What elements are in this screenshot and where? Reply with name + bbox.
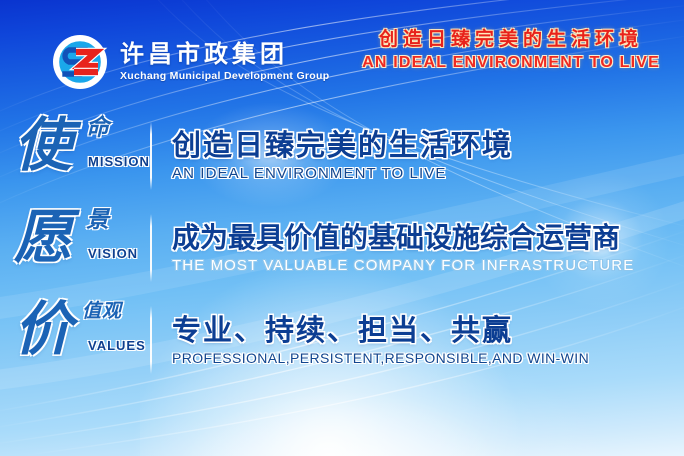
header-slogan-en: AN IDEAL ENVIRONMENT TO LIVE	[362, 53, 660, 72]
statement-en-values: PROFESSIONAL,PERSISTENT,RESPONSIBLE,AND …	[172, 350, 589, 368]
row-vision: 愿 景 VISION 成为最具价值的基础设施综合运营商 THE MOST VAL…	[0, 202, 684, 294]
row-divider	[150, 122, 152, 190]
keyword-en-mission: MISSION	[88, 154, 150, 169]
keyword-block-vision: 愿 景 VISION	[0, 202, 150, 294]
company-logo-icon	[52, 34, 108, 90]
statement-cn-mission: 创造日臻完美的生活环境	[172, 128, 513, 162]
brand-name-en: Xuchang Municipal Development Group	[120, 70, 329, 84]
keyword-block-mission: 使 命 MISSION	[0, 110, 150, 202]
brand-text-group: 许昌市政集团 Xuchang Municipal Development Gro…	[120, 40, 329, 84]
statement-en-vision: THE MOST VALUABLE COMPANY FOR INFRASTRUC…	[172, 257, 634, 276]
row-values: 价 值观 VALUES 专业、持续、担当、共赢 PROFESSIONAL,PER…	[0, 294, 684, 386]
text-block-vision: 成为最具价值的基础设施综合运营商 THE MOST VALUABLE COMPA…	[150, 221, 634, 276]
keyword-en-vision: VISION	[88, 246, 138, 261]
keyword-small-vision: 景	[86, 208, 110, 231]
statement-cn-values: 专业、持续、担当、共赢	[172, 313, 589, 347]
keyword-small-mission: 命	[86, 116, 110, 139]
header-slogan-cn: 创造日臻完美的生活环境	[362, 28, 660, 52]
keyword-small-values: 值观	[82, 302, 122, 321]
row-divider	[150, 214, 152, 282]
poster-canvas: 许昌市政集团 Xuchang Municipal Development Gro…	[0, 0, 684, 456]
row-divider	[150, 306, 152, 374]
text-block-mission: 创造日臻完美的生活环境 AN IDEAL ENVIRONMENT TO LIVE	[150, 128, 513, 184]
keyword-big-mission: 使	[14, 116, 72, 174]
keyword-big-values: 价	[14, 300, 72, 358]
brand-header: 许昌市政集团 Xuchang Municipal Development Gro…	[52, 34, 329, 90]
statement-cn-vision: 成为最具价值的基础设施综合运营商	[172, 221, 634, 254]
keyword-en-values: VALUES	[88, 338, 146, 353]
text-block-values: 专业、持续、担当、共赢 PROFESSIONAL,PERSISTENT,RESP…	[150, 313, 589, 368]
header-slogan: 创造日臻完美的生活环境 AN IDEAL ENVIRONMENT TO LIVE	[362, 28, 660, 72]
brand-name-cn: 许昌市政集团	[120, 42, 329, 68]
value-rows: 使 命 MISSION 创造日臻完美的生活环境 AN IDEAL ENVIRON…	[0, 110, 684, 386]
row-mission: 使 命 MISSION 创造日臻完美的生活环境 AN IDEAL ENVIRON…	[0, 110, 684, 202]
keyword-block-values: 价 值观 VALUES	[0, 294, 150, 386]
keyword-big-vision: 愿	[14, 208, 72, 266]
statement-en-mission: AN IDEAL ENVIRONMENT TO LIVE	[172, 165, 513, 184]
